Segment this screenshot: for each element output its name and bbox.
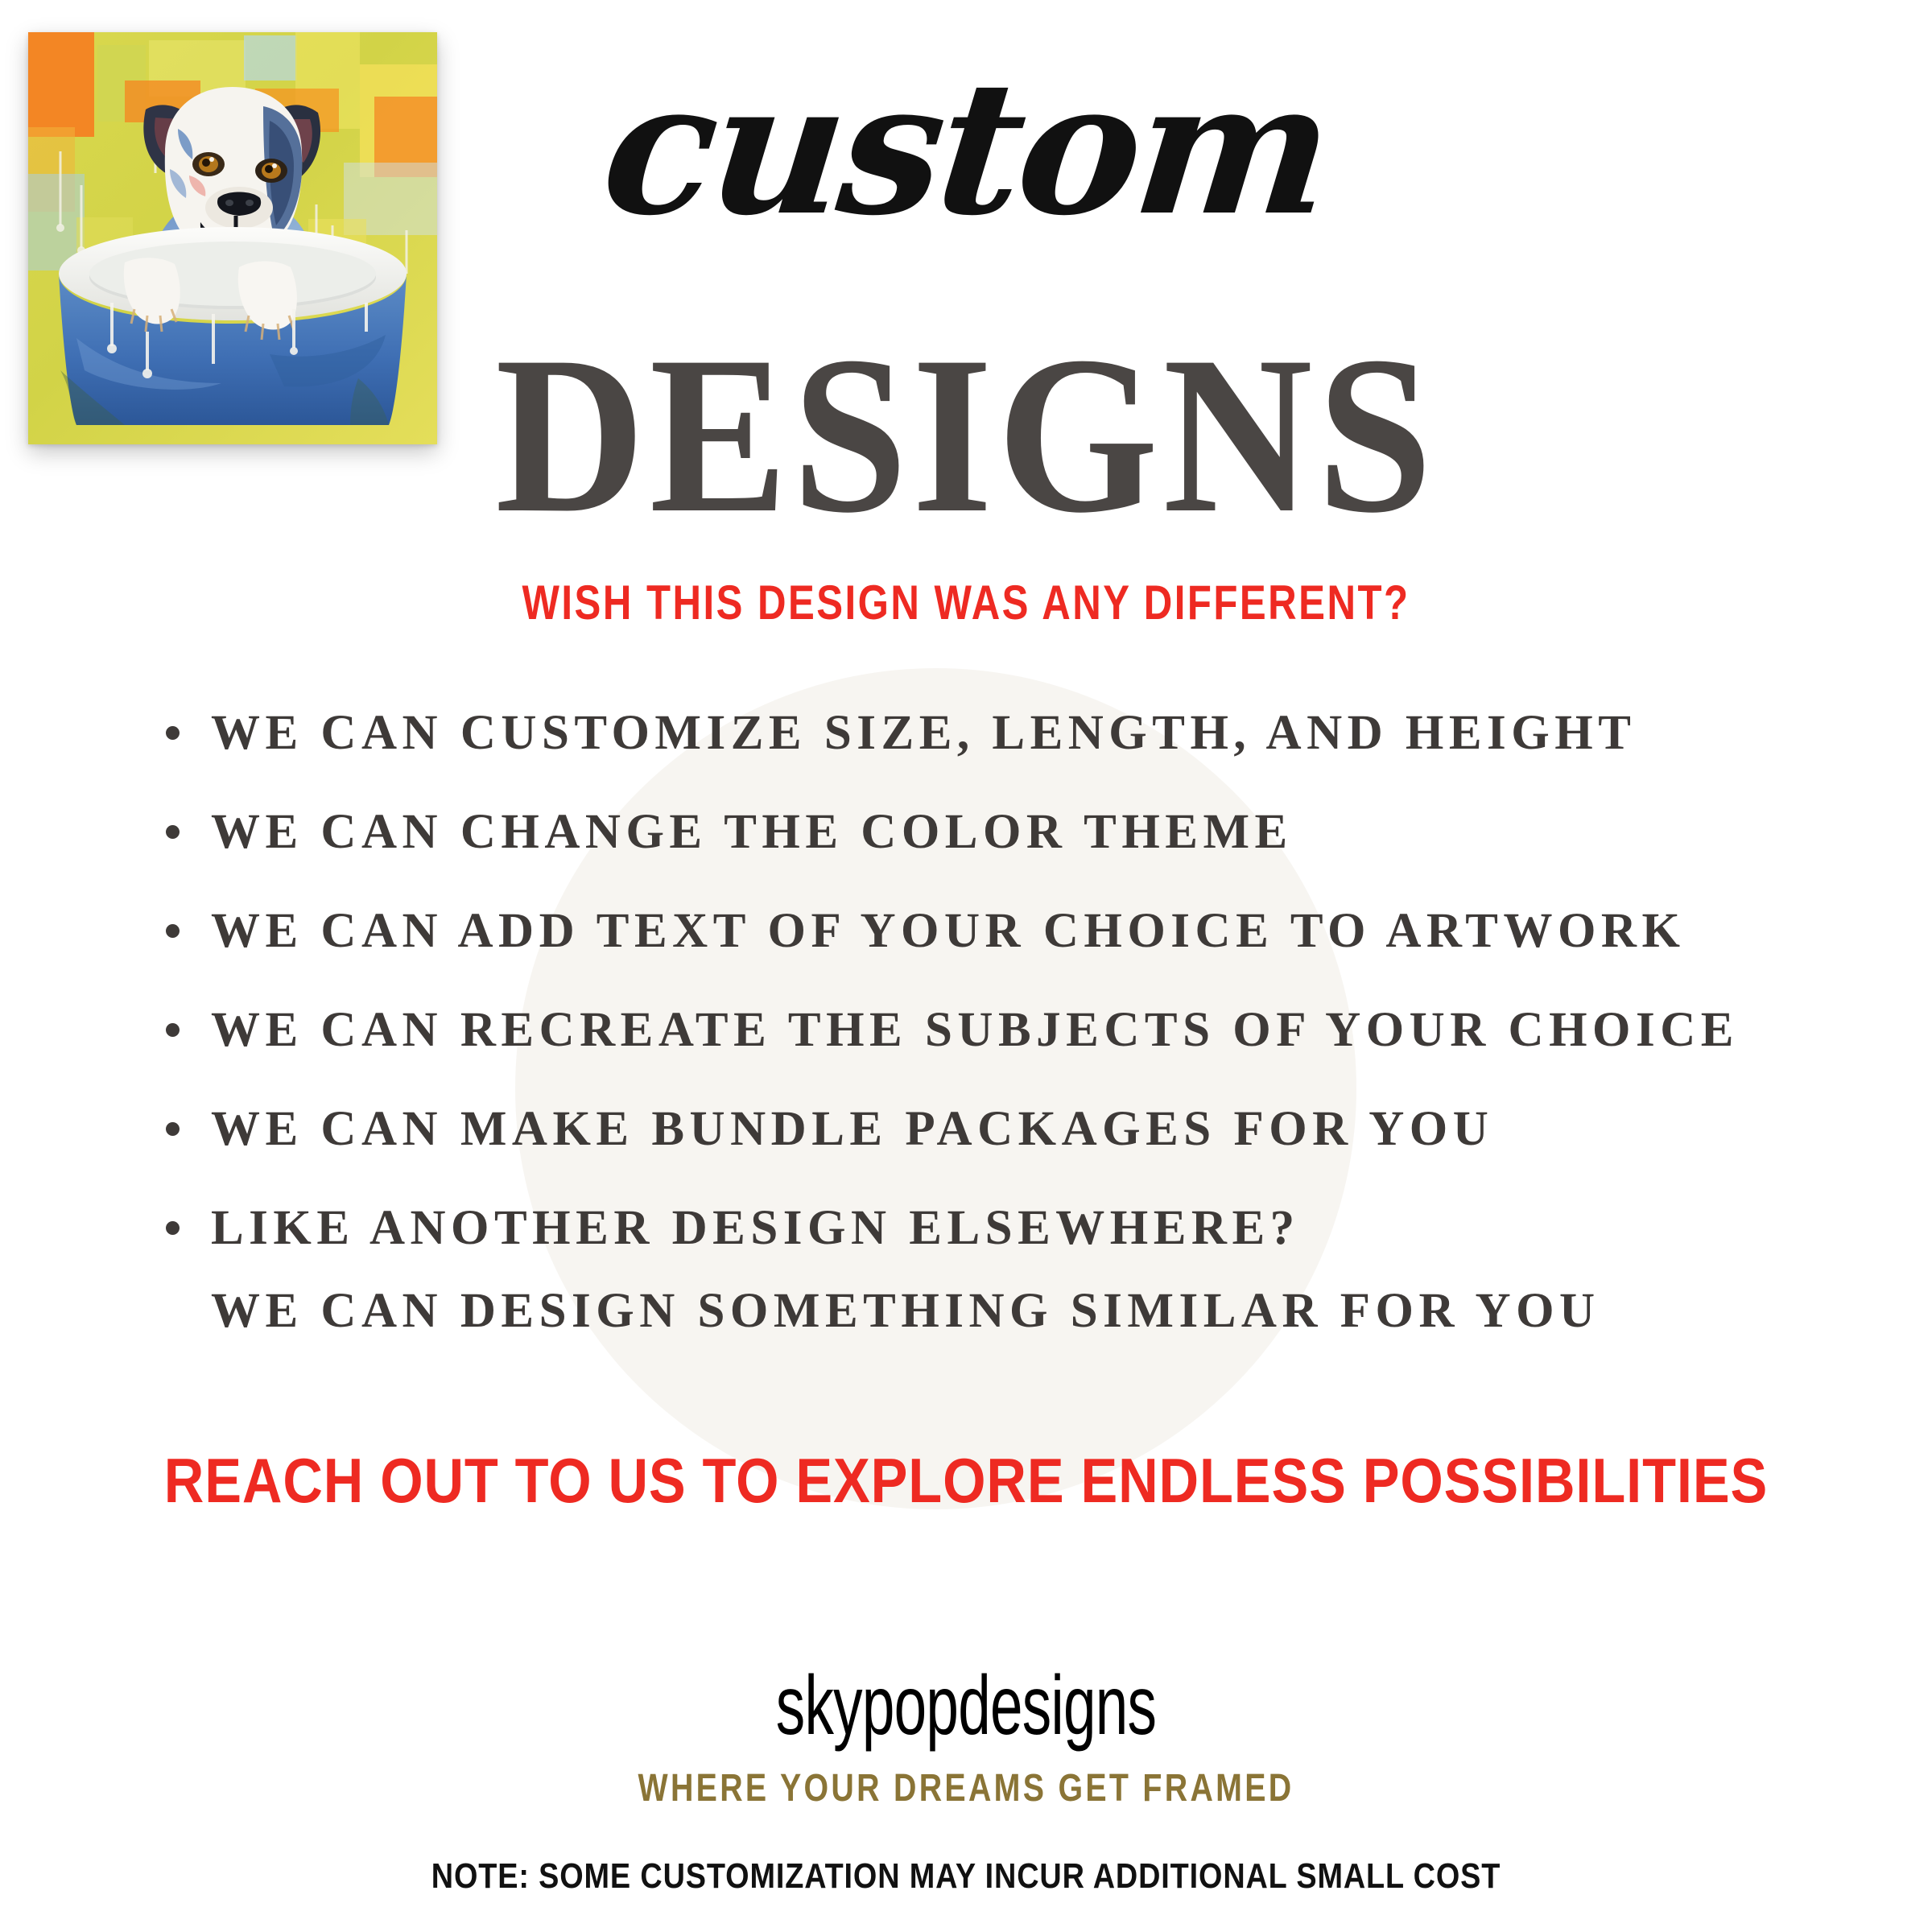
list-item: WE CAN RECREATE THE SUBJECTS OF YOUR CHO… [161, 1005, 1819, 1055]
list-item: WE CAN CHANGE THE COLOR THEME [161, 807, 1819, 857]
list-item: WE CAN CUSTOMIZE SIZE, LENGTH, AND HEIGH… [161, 708, 1819, 758]
list-item: WE CAN MAKE BUNDLE PACKAGES FOR YOU [161, 1104, 1819, 1154]
dog-in-bathtub-painting-image [28, 32, 437, 444]
brand-tagline: WHERE YOUR DREAMS GET FRAMED [174, 1766, 1758, 1810]
call-to-action-text[interactable]: REACH OUT TO US TO EXPLORE ENDLESS POSSI… [116, 1444, 1816, 1517]
capabilities-list: WE CAN CUSTOMIZE SIZE, LENGTH, AND HEIGH… [161, 708, 1819, 1302]
disclaimer-note: NOTE: SOME CUSTOMIZATION MAY INCUR ADDIT… [135, 1856, 1797, 1897]
page-subheading: WISH THIS DESIGN WAS ANY DIFFERENT? [174, 575, 1758, 630]
brand-logo-text: skypopdesigns [290, 1658, 1642, 1754]
artwork-thumbnail[interactable] [28, 32, 437, 444]
list-item: WE CAN ADD TEXT OF YOUR CHOICE TO ARTWOR… [161, 906, 1819, 956]
list-item-continuation: WE CAN DESIGN SOMETHING SIMILAR FOR YOU [211, 1286, 1600, 1335]
list-item: LIKE ANOTHER DESIGN ELSEWHERE? [161, 1203, 1819, 1253]
